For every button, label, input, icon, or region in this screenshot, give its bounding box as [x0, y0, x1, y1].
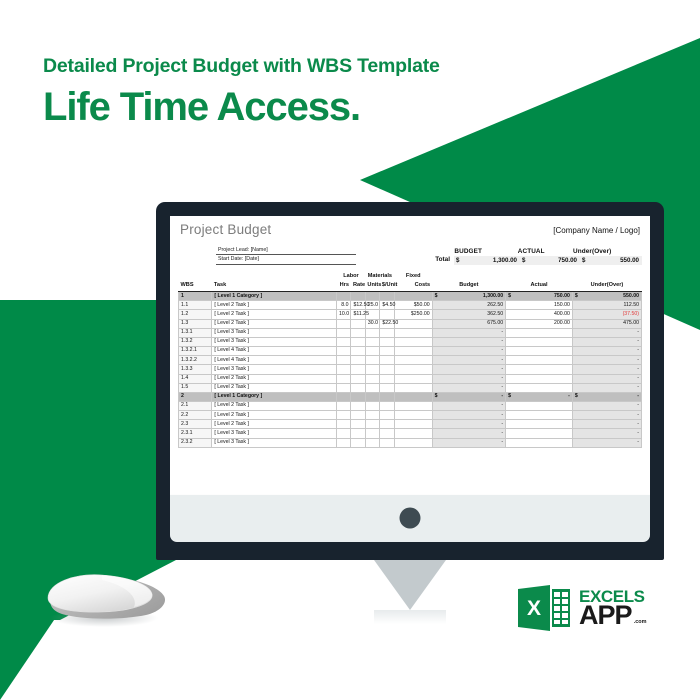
total-actual-cell: $ 750.00: [520, 256, 580, 265]
cell-under-over[interactable]: -: [572, 337, 641, 346]
cell-rate[interactable]: [351, 383, 365, 392]
cell-budget-value: -: [435, 439, 503, 446]
cell-budget[interactable]: -: [432, 356, 505, 365]
cell-hrs[interactable]: [337, 420, 351, 429]
total-under-over-value: 550.00: [585, 257, 639, 264]
cell-budget-value: -: [435, 421, 503, 428]
total-budget-cell: $ 1,300.00: [454, 256, 520, 265]
cell-hrs[interactable]: 8.0: [337, 301, 351, 310]
cell-budget-value: 1,300.00: [438, 293, 504, 300]
cell-fixed[interactable]: [394, 420, 432, 429]
cell-units[interactable]: [365, 383, 379, 392]
cell-actual[interactable]: [506, 328, 573, 337]
cell-hrs[interactable]: 10.0: [337, 310, 351, 319]
column-header-row: WBS Task Hrs Rate Units $/Unit Costs Bud…: [179, 282, 642, 292]
cell-under-over-value: -: [575, 329, 639, 336]
cell-under-over[interactable]: (37.50): [572, 310, 641, 319]
cell-budget-value: -: [435, 366, 503, 373]
group-spacer: [572, 273, 641, 282]
totals-headers: BUDGET ACTUAL Under(Over): [435, 248, 642, 255]
cell-wbs[interactable]: 1.3.2: [179, 337, 212, 346]
cell-fixed[interactable]: [394, 383, 432, 392]
computer-mouse: [42, 570, 177, 630]
column-header-actual[interactable]: Actual: [506, 282, 573, 292]
cell-rate[interactable]: [351, 374, 365, 383]
cell-budget[interactable]: -: [432, 328, 505, 337]
cell-under-over[interactable]: -: [572, 402, 641, 411]
cell-unit-cost[interactable]: $22.50: [380, 319, 394, 328]
cell-fixed[interactable]: $250.00: [394, 310, 432, 319]
cell-actual[interactable]: $750.00: [506, 292, 573, 301]
column-header-under-over[interactable]: Under(Over): [572, 282, 641, 292]
cell-wbs[interactable]: 1.5: [179, 383, 212, 392]
cell-budget-value: 262.50: [435, 302, 503, 309]
table-row[interactable]: 1.3[ Level 2 Task ]30.0$22.50675.00200.0…: [179, 319, 642, 328]
cell-unit-cost[interactable]: [380, 411, 394, 420]
cell-rate[interactable]: [351, 337, 365, 346]
cell-wbs[interactable]: 1.3.1: [179, 328, 212, 337]
cell-rate[interactable]: [351, 420, 365, 429]
column-header-costs[interactable]: Costs: [394, 282, 432, 292]
table-row[interactable]: 1.2[ Level 2 Task ]10.0$11.25$250.00362.…: [179, 310, 642, 319]
cell-wbs[interactable]: 2.3.2: [179, 438, 212, 447]
cell-task[interactable]: [ Level 3 Task ]: [212, 328, 337, 337]
company-logo-placeholder: [Company Name / Logo]: [553, 226, 640, 235]
table-row[interactable]: 1.4[ Level 2 Task ]--: [179, 374, 642, 383]
cell-units[interactable]: [365, 356, 379, 365]
cell-unit-cost[interactable]: [380, 292, 394, 301]
cell-units[interactable]: [365, 347, 379, 356]
cell-budget-value: -: [438, 393, 504, 400]
cell-under-over[interactable]: $-: [572, 392, 641, 401]
cell-budget-value: -: [435, 375, 503, 382]
cell-wbs[interactable]: 2.2: [179, 411, 212, 420]
cell-actual-value: 750.00: [511, 293, 570, 300]
cell-budget[interactable]: -: [432, 374, 505, 383]
cell-budget[interactable]: -: [432, 347, 505, 356]
cell-hrs[interactable]: [337, 392, 351, 401]
cell-rate[interactable]: [351, 347, 365, 356]
stand-reflection: [374, 610, 446, 624]
project-meta: Project Lead: [Name] Start Date: [Date]: [216, 246, 356, 265]
table-row[interactable]: 1.5[ Level 2 Task ]--: [179, 383, 642, 392]
cell-unit-cost[interactable]: [380, 310, 394, 319]
group-spacer: [432, 273, 505, 282]
cell-under-over-value: -: [575, 357, 639, 364]
spreadsheet-header: Project Budget [Company Name / Logo]: [178, 222, 642, 237]
totals-block: BUDGET ACTUAL Under(Over) Total $ 1,300.…: [435, 248, 642, 265]
monitor-bezel: Project Budget [Company Name / Logo] Pro…: [156, 202, 664, 560]
cell-unit-cost[interactable]: [380, 365, 394, 374]
cell-rate[interactable]: [351, 429, 365, 438]
cell-under-over[interactable]: -: [572, 438, 641, 447]
totals-label: Total: [435, 256, 454, 263]
cell-under-over-value: (37.50): [575, 311, 639, 318]
cell-under-over-value: -: [575, 430, 639, 437]
cell-unit-cost[interactable]: [380, 356, 394, 365]
cell-wbs[interactable]: 1.1: [179, 301, 212, 310]
cell-task[interactable]: [ Level 2 Task ]: [212, 374, 337, 383]
spreadsheet-title: Project Budget: [180, 222, 271, 237]
cell-under-over[interactable]: 475.00: [572, 319, 641, 328]
cell-wbs[interactable]: 1.3.2.2: [179, 356, 212, 365]
totals-values: $ 1,300.00 $ 750.00 $ 550.00: [454, 256, 642, 265]
cell-under-over-value: -: [575, 402, 639, 409]
cell-task[interactable]: [ Level 1 Category ]: [212, 292, 337, 301]
cell-actual[interactable]: [506, 347, 573, 356]
excel-icon-letter: X: [527, 597, 541, 620]
cell-under-over[interactable]: -: [572, 420, 641, 429]
cell-units[interactable]: [365, 429, 379, 438]
cell-fixed[interactable]: [394, 347, 432, 356]
total-under-over-cell: $ 550.00: [580, 256, 642, 265]
cell-budget[interactable]: 262.50: [432, 301, 505, 310]
cell-unit-cost[interactable]: [380, 438, 394, 447]
cell-hrs[interactable]: [337, 429, 351, 438]
cell-budget[interactable]: -: [432, 383, 505, 392]
cell-units[interactable]: [365, 402, 379, 411]
cell-task[interactable]: [ Level 1 Category ]: [212, 392, 337, 401]
cell-rate[interactable]: [351, 328, 365, 337]
cell-rate[interactable]: [351, 356, 365, 365]
cell-under-over[interactable]: 112.50: [572, 301, 641, 310]
cell-task[interactable]: [ Level 2 Task ]: [212, 301, 337, 310]
cell-hrs[interactable]: [337, 411, 351, 420]
cell-fixed[interactable]: [394, 402, 432, 411]
cell-units[interactable]: [365, 420, 379, 429]
cell-units[interactable]: [365, 374, 379, 383]
cell-rate[interactable]: [351, 292, 365, 301]
column-header-wbs[interactable]: WBS: [179, 282, 212, 292]
headline-subtitle: Detailed Project Budget with WBS Templat…: [43, 55, 440, 78]
cell-unit-cost[interactable]: [380, 429, 394, 438]
cell-rate[interactable]: [351, 365, 365, 374]
cell-actual[interactable]: [506, 365, 573, 374]
column-header-budget[interactable]: Budget: [432, 282, 505, 292]
cell-units[interactable]: [365, 411, 379, 420]
cell-fixed[interactable]: [394, 392, 432, 401]
cell-fixed[interactable]: [394, 365, 432, 374]
cell-under-over-value: -: [575, 384, 639, 391]
monitor-screen: Project Budget [Company Name / Logo] Pro…: [170, 216, 650, 494]
spreadsheet: Project Budget [Company Name / Logo] Pro…: [170, 216, 650, 494]
cell-under-over[interactable]: -: [572, 347, 641, 356]
brand-wordmark: EXCELS APP .com: [579, 590, 645, 627]
cell-unit-cost[interactable]: [380, 337, 394, 346]
cell-budget[interactable]: -: [432, 411, 505, 420]
table-row[interactable]: 2.3.1[ Level 3 Task ]--: [179, 429, 642, 438]
cell-budget-value: 362.50: [435, 311, 503, 318]
cell-wbs[interactable]: 2.1: [179, 402, 212, 411]
cell-unit-cost[interactable]: $4.50: [380, 301, 394, 310]
table-row[interactable]: 1.3.1[ Level 3 Task ]--: [179, 328, 642, 337]
cell-task[interactable]: [ Level 2 Task ]: [212, 310, 337, 319]
cell-wbs[interactable]: 1.2: [179, 310, 212, 319]
cell-actual[interactable]: [506, 374, 573, 383]
cell-under-over[interactable]: -: [572, 365, 641, 374]
cell-rate[interactable]: [351, 392, 365, 401]
cell-unit-cost[interactable]: [380, 328, 394, 337]
cell-hrs[interactable]: [337, 383, 351, 392]
cell-task[interactable]: [ Level 4 Task ]: [212, 356, 337, 365]
brand-tld: .com: [634, 620, 647, 625]
cell-budget[interactable]: -: [432, 402, 505, 411]
table-row[interactable]: 1.3.2[ Level 3 Task ]--: [179, 337, 642, 346]
cell-units[interactable]: 30.0: [365, 319, 379, 328]
cell-under-over[interactable]: -: [572, 374, 641, 383]
cell-budget[interactable]: -: [432, 420, 505, 429]
excel-icon: X: [516, 583, 572, 633]
cell-actual-value: 150.00: [508, 302, 570, 309]
cell-budget-value: -: [435, 412, 503, 419]
cell-task[interactable]: [ Level 3 Task ]: [212, 429, 337, 438]
column-header-hrs[interactable]: Hrs: [337, 282, 351, 292]
cell-hrs[interactable]: [337, 356, 351, 365]
cell-under-over[interactable]: $550.00: [572, 292, 641, 301]
cell-rate[interactable]: [351, 438, 365, 447]
cell-actual-value: -: [511, 393, 570, 400]
cell-actual[interactable]: [506, 356, 573, 365]
column-header-units[interactable]: Units: [365, 282, 379, 292]
cell-budget-value: -: [435, 402, 503, 409]
cell-wbs[interactable]: 1.4: [179, 374, 212, 383]
cell-actual[interactable]: 150.00: [506, 301, 573, 310]
cell-task[interactable]: [ Level 2 Task ]: [212, 420, 337, 429]
cell-under-over[interactable]: -: [572, 383, 641, 392]
group-header-materials: Materials: [365, 273, 394, 282]
cell-rate[interactable]: [351, 411, 365, 420]
cell-hrs[interactable]: [337, 402, 351, 411]
project-lead-field[interactable]: Project Lead: [Name]: [216, 246, 356, 255]
cell-wbs[interactable]: 1.3: [179, 319, 212, 328]
cell-budget[interactable]: 362.50: [432, 310, 505, 319]
cell-hrs[interactable]: [337, 438, 351, 447]
cell-hrs[interactable]: [337, 347, 351, 356]
cell-actual[interactable]: 400.00: [506, 310, 573, 319]
cell-unit-cost[interactable]: [380, 347, 394, 356]
cell-rate[interactable]: [351, 319, 365, 328]
cell-fixed[interactable]: [394, 429, 432, 438]
cell-actual[interactable]: [506, 337, 573, 346]
cell-fixed[interactable]: $50.00: [394, 301, 432, 310]
cell-budget[interactable]: -: [432, 365, 505, 374]
totals-header-actual: ACTUAL: [501, 248, 561, 255]
cell-actual[interactable]: [506, 429, 573, 438]
column-header-unit-cost[interactable]: $/Unit: [380, 282, 394, 292]
cell-actual-value: 400.00: [508, 311, 570, 318]
cell-actual[interactable]: [506, 402, 573, 411]
cell-unit-cost[interactable]: [380, 402, 394, 411]
stand-neck: [374, 560, 446, 610]
cell-units[interactable]: [365, 328, 379, 337]
cell-fixed[interactable]: [394, 292, 432, 301]
cell-hrs[interactable]: [337, 292, 351, 301]
table-row[interactable]: 1.3.3[ Level 3 Task ]--: [179, 365, 642, 374]
table-row[interactable]: 2.2[ Level 2 Task ]--: [179, 411, 642, 420]
cell-wbs[interactable]: 1.3.3: [179, 365, 212, 374]
cell-budget-value: -: [435, 338, 503, 345]
cell-budget-value: -: [435, 329, 503, 336]
cell-under-over-value: -: [575, 421, 639, 428]
apple-logo-icon: [400, 508, 421, 529]
cell-hrs[interactable]: [337, 337, 351, 346]
cell-hrs[interactable]: [337, 365, 351, 374]
cell-unit-cost[interactable]: [380, 374, 394, 383]
cell-budget-value: -: [435, 357, 503, 364]
group-spacer: [212, 273, 337, 282]
cell-under-over-value: -: [578, 393, 639, 400]
cell-budget[interactable]: -: [432, 438, 505, 447]
cell-actual[interactable]: [506, 383, 573, 392]
spreadsheet-meta-row: Project Lead: [Name] Start Date: [Date] …: [178, 246, 642, 265]
cell-actual[interactable]: [506, 438, 573, 447]
totals-header-budget: BUDGET: [435, 248, 501, 255]
start-date-field[interactable]: Start Date: [Date]: [216, 255, 356, 264]
cell-fixed[interactable]: [394, 356, 432, 365]
cell-wbs[interactable]: 2: [179, 392, 212, 401]
table-row[interactable]: 1.3.2.2[ Level 4 Task ]--: [179, 356, 642, 365]
cell-hrs[interactable]: [337, 374, 351, 383]
cell-fixed[interactable]: [394, 438, 432, 447]
cell-task[interactable]: [ Level 2 Task ]: [212, 402, 337, 411]
cell-under-over-value: -: [575, 375, 639, 382]
cell-unit-cost[interactable]: [380, 383, 394, 392]
table-row[interactable]: 2.1[ Level 2 Task ]--: [179, 402, 642, 411]
group-header-row: Labor Materials Fixed: [179, 273, 642, 282]
monitor-chin: [170, 494, 650, 542]
totals-header-under-over: Under(Over): [561, 248, 623, 255]
cell-budget-value: 675.00: [435, 320, 503, 327]
cell-fixed[interactable]: [394, 319, 432, 328]
brand-logo: X EXCELS APP .com: [516, 583, 645, 633]
cell-budget[interactable]: $1,300.00: [432, 292, 505, 301]
cell-units[interactable]: [365, 438, 379, 447]
cell-under-over-value: -: [575, 338, 639, 345]
cell-under-over-value: -: [575, 412, 639, 419]
cell-unit-cost[interactable]: [380, 420, 394, 429]
cell-wbs[interactable]: 2.3.1: [179, 429, 212, 438]
table-row[interactable]: 1.3.2.1[ Level 4 Task ]--: [179, 347, 642, 356]
cell-task[interactable]: [ Level 4 Task ]: [212, 347, 337, 356]
cell-rate[interactable]: [351, 402, 365, 411]
cell-under-over[interactable]: -: [572, 356, 641, 365]
total-actual-value: 750.00: [525, 257, 577, 264]
cell-units[interactable]: 25.0: [365, 301, 379, 310]
cell-hrs[interactable]: [337, 328, 351, 337]
cell-rate[interactable]: $11.25: [351, 310, 365, 319]
cell-budget[interactable]: -: [432, 429, 505, 438]
column-header-rate[interactable]: Rate: [351, 282, 365, 292]
cell-budget-value: -: [435, 347, 503, 354]
brand-app-text: APP: [579, 600, 632, 630]
cell-under-over[interactable]: -: [572, 328, 641, 337]
cell-hrs[interactable]: [337, 319, 351, 328]
cell-under-over-value: 475.00: [575, 320, 639, 327]
cell-actual[interactable]: [506, 411, 573, 420]
cell-budget[interactable]: $-: [432, 392, 505, 401]
table-row[interactable]: 2.3.2[ Level 3 Task ]--: [179, 438, 642, 447]
cell-task[interactable]: [ Level 3 Task ]: [212, 438, 337, 447]
group-header-labor: Labor: [337, 273, 366, 282]
cell-actual[interactable]: 200.00: [506, 319, 573, 328]
cell-task[interactable]: [ Level 2 Task ]: [212, 383, 337, 392]
cell-budget-value: -: [435, 430, 503, 437]
cell-fixed[interactable]: [394, 374, 432, 383]
cell-under-over-value: -: [575, 439, 639, 446]
cell-actual[interactable]: [506, 420, 573, 429]
cell-actual[interactable]: $-: [506, 392, 573, 401]
cell-wbs[interactable]: 1: [179, 292, 212, 301]
brand-line-app: APP .com: [579, 604, 632, 627]
cell-actual-value: 200.00: [508, 320, 570, 327]
cell-under-over-value: -: [575, 366, 639, 373]
cell-budget[interactable]: -: [432, 337, 505, 346]
group-header-fixed: Fixed: [394, 273, 432, 282]
cell-units[interactable]: [365, 392, 379, 401]
column-header-task[interactable]: Task: [212, 282, 337, 292]
budget-table-body: 1[ Level 1 Category ]$1,300.00$750.00$55…: [179, 292, 642, 448]
cell-fixed[interactable]: [394, 411, 432, 420]
table-row[interactable]: 2[ Level 1 Category ]$-$-$-: [179, 392, 642, 401]
budget-table: Labor Materials Fixed WBS Task Hrs Rate: [178, 273, 642, 448]
group-spacer: [506, 273, 573, 282]
table-row[interactable]: 1[ Level 1 Category ]$1,300.00$750.00$55…: [179, 292, 642, 301]
cell-under-over-value: 112.50: [575, 302, 639, 309]
cell-task[interactable]: [ Level 2 Task ]: [212, 319, 337, 328]
cell-units[interactable]: [365, 292, 379, 301]
headline-block: Detailed Project Budget with WBS Templat…: [43, 55, 440, 130]
cell-wbs[interactable]: 2.3: [179, 420, 212, 429]
headline-title: Life Time Access.: [43, 85, 440, 130]
cell-units[interactable]: [365, 337, 379, 346]
cell-fixed[interactable]: [394, 337, 432, 346]
cell-rate[interactable]: $12.50: [351, 301, 365, 310]
cell-wbs[interactable]: 1.3.2.1: [179, 347, 212, 356]
budget-table-head: Labor Materials Fixed WBS Task Hrs Rate: [179, 273, 642, 292]
cell-unit-cost[interactable]: [380, 392, 394, 401]
cell-task[interactable]: [ Level 3 Task ]: [212, 337, 337, 346]
excel-icon-svg: X: [516, 583, 572, 633]
cell-under-over[interactable]: -: [572, 429, 641, 438]
cell-task[interactable]: [ Level 2 Task ]: [212, 411, 337, 420]
imac-monitor: Project Budget [Company Name / Logo] Pro…: [156, 202, 664, 612]
cell-budget[interactable]: 675.00: [432, 319, 505, 328]
total-budget-value: 1,300.00: [459, 257, 517, 264]
cell-under-over-value: -: [575, 347, 639, 354]
table-row[interactable]: 2.3[ Level 2 Task ]--: [179, 420, 642, 429]
group-spacer: [179, 273, 212, 282]
table-row[interactable]: 1.1[ Level 2 Task ]8.0$12.5025.0$4.50$50…: [179, 301, 642, 310]
cell-fixed[interactable]: [394, 328, 432, 337]
cell-under-over-value: 550.00: [578, 293, 639, 300]
cell-task[interactable]: [ Level 3 Task ]: [212, 365, 337, 374]
cell-budget-value: -: [435, 384, 503, 391]
cell-under-over[interactable]: -: [572, 411, 641, 420]
cell-units[interactable]: [365, 365, 379, 374]
